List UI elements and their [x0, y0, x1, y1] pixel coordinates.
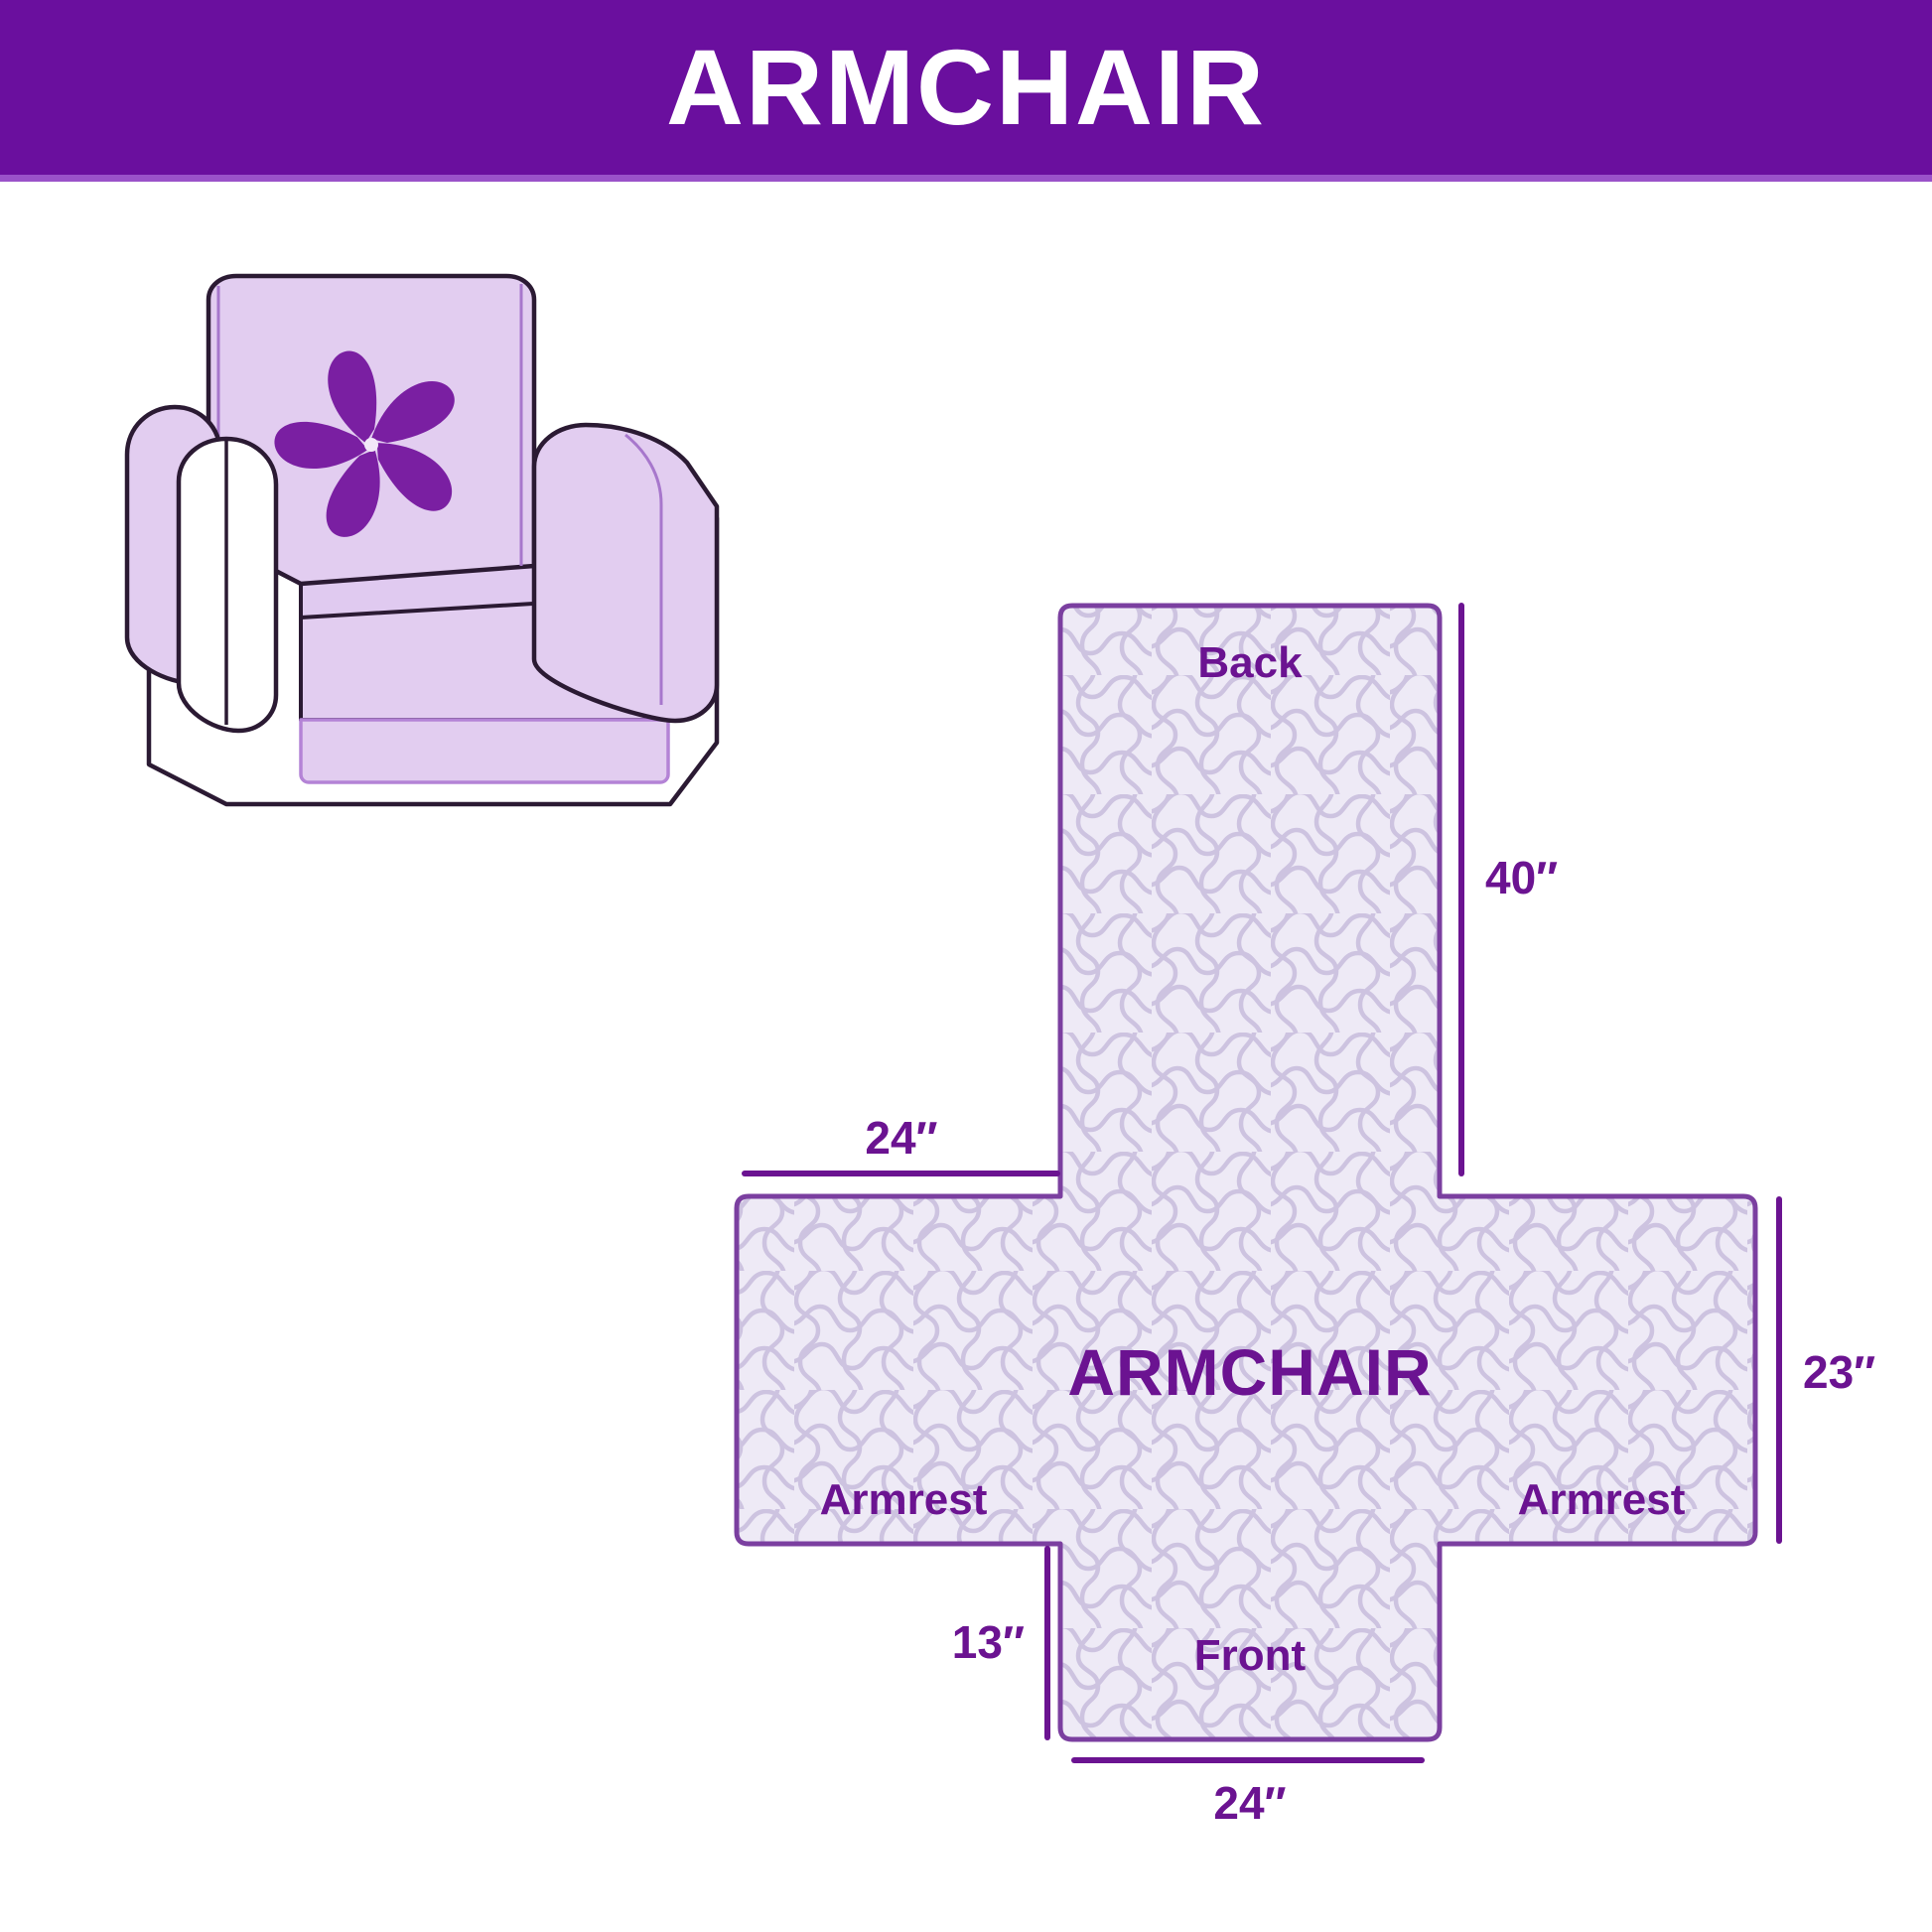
dimension-back-width: 24″ — [745, 1112, 1057, 1173]
page-root: ARMCHAIR — [0, 0, 1932, 1932]
center-label-armchair: ARMCHAIR — [1067, 1335, 1432, 1409]
dimension-back-height: 40″ — [1461, 606, 1558, 1173]
dimension-front-height: 13″ — [952, 1549, 1047, 1737]
dimension-value-24-top: 24″ — [865, 1112, 937, 1164]
dimension-armrest-height: 23″ — [1779, 1199, 1875, 1541]
panel-label-front: Front — [1194, 1631, 1307, 1680]
panel-label-back: Back — [1197, 638, 1303, 687]
cover-cross-diagram: Back ARMCHAIR Armrest Armrest Front 40″ … — [556, 556, 1876, 1827]
dimension-front-width: 24″ — [1074, 1760, 1422, 1827]
dimension-value-23: 23″ — [1803, 1346, 1875, 1398]
page-title: ARMCHAIR — [666, 34, 1266, 141]
banner-underline — [0, 175, 1932, 182]
panel-label-armrest-right: Armrest — [1518, 1475, 1686, 1524]
header-banner: ARMCHAIR — [0, 0, 1932, 175]
dimension-value-24-bottom: 24″ — [1213, 1777, 1286, 1827]
dimension-value-40: 40″ — [1485, 852, 1558, 903]
dimension-value-13: 13″ — [952, 1616, 1025, 1668]
panel-label-armrest-left: Armrest — [820, 1475, 988, 1524]
